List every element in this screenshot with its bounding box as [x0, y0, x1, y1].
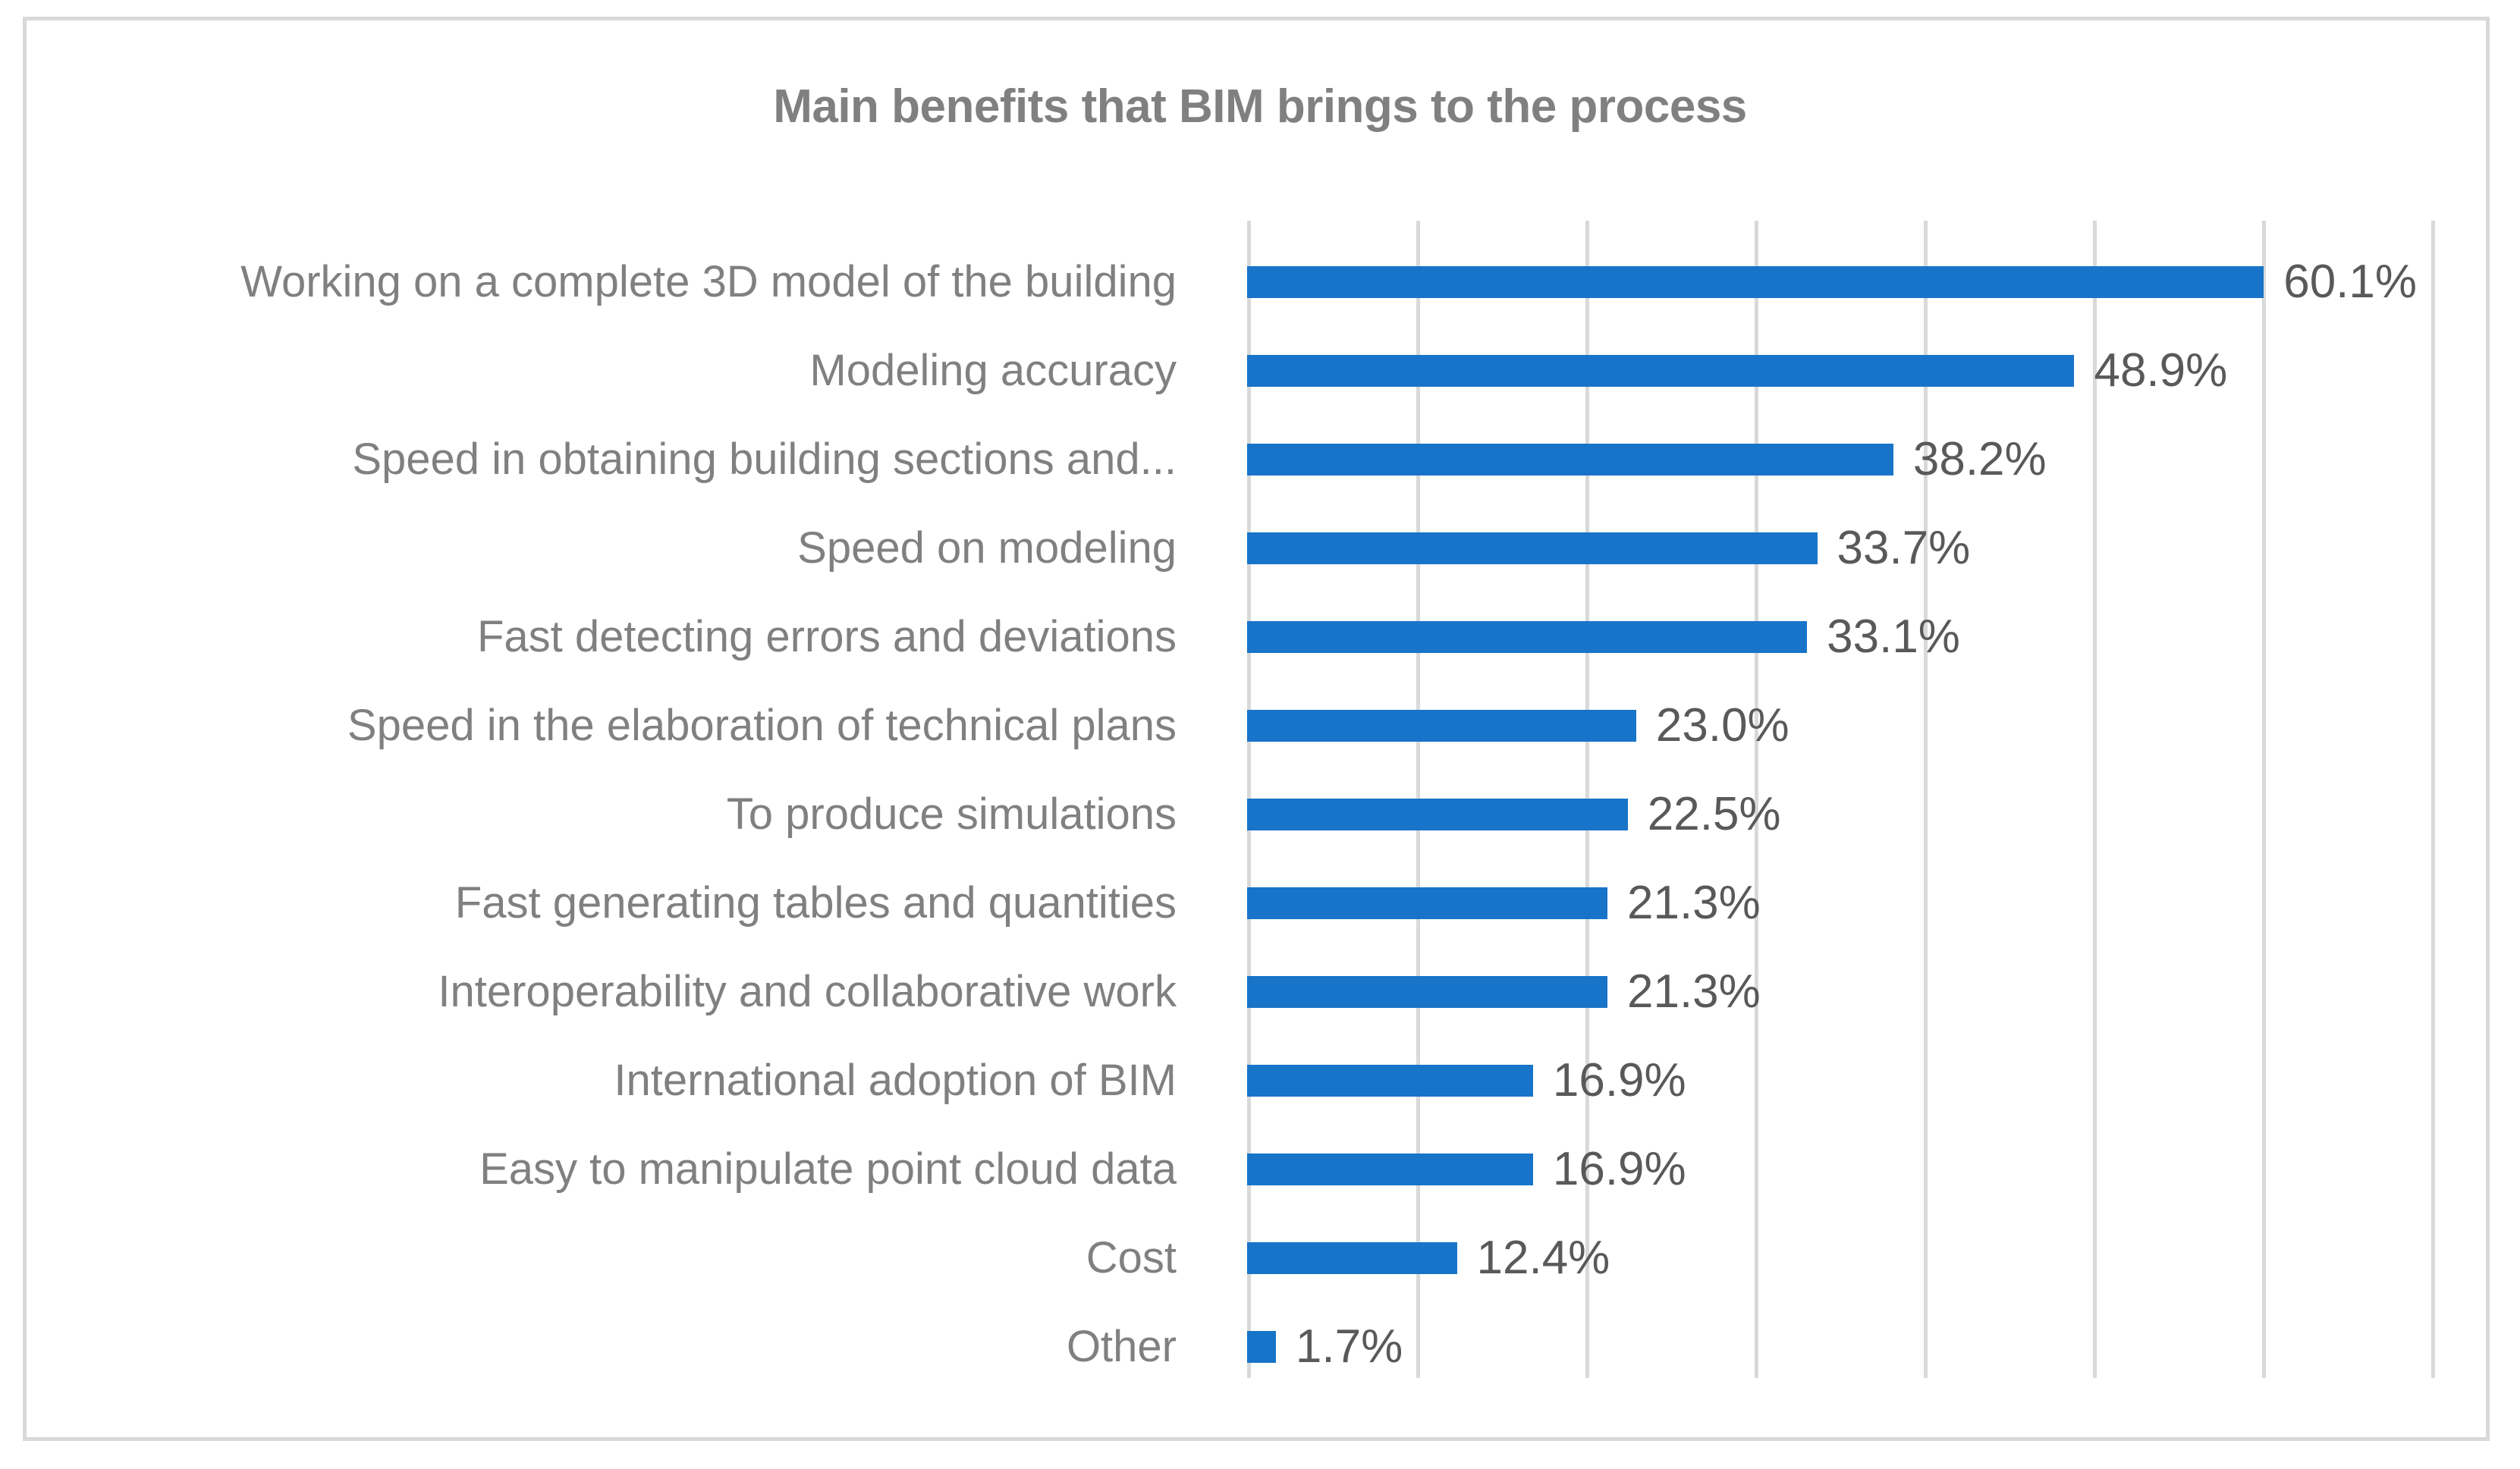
bar-group: 16.9%: [1247, 1036, 1686, 1125]
category-label: Interoperability and collaborative work: [438, 947, 1177, 1036]
bar-value-label: 16.9%: [1553, 1146, 1686, 1193]
bar-row: International adoption of BIM16.9%: [1247, 1036, 2431, 1125]
bar-value-label: 21.3%: [1627, 968, 1761, 1015]
bar-value-label: 48.9%: [2094, 347, 2227, 394]
bar-value-label: 16.9%: [1553, 1057, 1686, 1104]
category-label: To produce simulations: [727, 770, 1177, 858]
bar-group: 33.1%: [1247, 592, 1960, 681]
gridline-70: [2431, 221, 2435, 1378]
bar-group: 38.2%: [1247, 415, 2047, 504]
bar-row: Interoperability and collaborative work2…: [1247, 947, 2431, 1036]
bar-row: Other1.7%: [1247, 1302, 2431, 1391]
bar[interactable]: [1247, 1242, 1457, 1274]
category-label: Speed on modeling: [797, 504, 1177, 592]
bar-value-label: 23.0%: [1656, 702, 1789, 749]
bar-value-label: 21.3%: [1627, 880, 1761, 927]
chart-title: Main benefits that BIM brings to the pro…: [27, 80, 2493, 133]
bar-value-label: 60.1%: [2283, 259, 2417, 306]
bar[interactable]: [1247, 266, 2264, 298]
bar-group: 33.7%: [1247, 504, 1970, 592]
bar[interactable]: [1247, 532, 1818, 564]
category-label: Fast generating tables and quantities: [455, 858, 1177, 947]
bar-value-label: 38.2%: [1913, 436, 2047, 483]
bar[interactable]: [1247, 799, 1628, 830]
category-label: International adoption of BIM: [614, 1036, 1177, 1125]
bar-group: 21.3%: [1247, 947, 1761, 1036]
bar-row: Speed in the elaboration of technical pl…: [1247, 681, 2431, 770]
bar[interactable]: [1247, 710, 1636, 742]
bar[interactable]: [1247, 1154, 1533, 1185]
bar-row: Speed in obtaining building sections and…: [1247, 415, 2431, 504]
bar[interactable]: [1247, 355, 2074, 387]
bar-value-label: 12.4%: [1477, 1235, 1610, 1282]
bar-row: Cost12.4%: [1247, 1213, 2431, 1302]
category-label: Working on a complete 3D model of the bu…: [240, 237, 1177, 326]
chart-canvas: Main benefits that BIM brings to the pro…: [0, 0, 2520, 1469]
category-label: Speed in obtaining building sections and…: [352, 415, 1177, 504]
bar-group: 16.9%: [1247, 1125, 1686, 1213]
bar-value-label: 33.7%: [1837, 525, 1971, 572]
bar-group: 22.5%: [1247, 770, 1781, 858]
plot-area: Working on a complete 3D model of the bu…: [1247, 221, 2431, 1378]
category-label: Fast detecting errors and deviations: [477, 592, 1177, 681]
bar-value-label: 1.7%: [1296, 1323, 1403, 1370]
bar[interactable]: [1247, 621, 1807, 653]
bar-group: 60.1%: [1247, 237, 2417, 326]
bar[interactable]: [1247, 976, 1607, 1008]
bar-row: To produce simulations22.5%: [1247, 770, 2431, 858]
bar-value-label: 22.5%: [1648, 791, 1781, 838]
category-label: Cost: [1086, 1213, 1177, 1302]
category-label: Speed in the elaboration of technical pl…: [347, 681, 1177, 770]
bar-row: Easy to manipulate point cloud data16.9%: [1247, 1125, 2431, 1213]
bar-group: 1.7%: [1247, 1302, 1403, 1391]
bar-group: 23.0%: [1247, 681, 1789, 770]
bar-row: Fast detecting errors and deviations33.1…: [1247, 592, 2431, 681]
bar-value-label: 33.1%: [1827, 614, 1960, 661]
bar-group: 12.4%: [1247, 1213, 1610, 1302]
bar-row: Modeling accuracy48.9%: [1247, 326, 2431, 415]
category-label: Other: [1067, 1302, 1177, 1391]
chart-frame: Main benefits that BIM brings to the pro…: [23, 17, 2490, 1441]
bar[interactable]: [1247, 1065, 1533, 1097]
bar[interactable]: [1247, 444, 1893, 476]
bar-row: Fast generating tables and quantities21.…: [1247, 858, 2431, 947]
bar[interactable]: [1247, 887, 1607, 919]
bar-row: Speed on modeling33.7%: [1247, 504, 2431, 592]
category-label: Modeling accuracy: [809, 326, 1177, 415]
bar-row: Working on a complete 3D model of the bu…: [1247, 237, 2431, 326]
bar-group: 48.9%: [1247, 326, 2227, 415]
bar-group: 21.3%: [1247, 858, 1761, 947]
bar[interactable]: [1247, 1331, 1276, 1363]
category-label: Easy to manipulate point cloud data: [479, 1125, 1177, 1213]
